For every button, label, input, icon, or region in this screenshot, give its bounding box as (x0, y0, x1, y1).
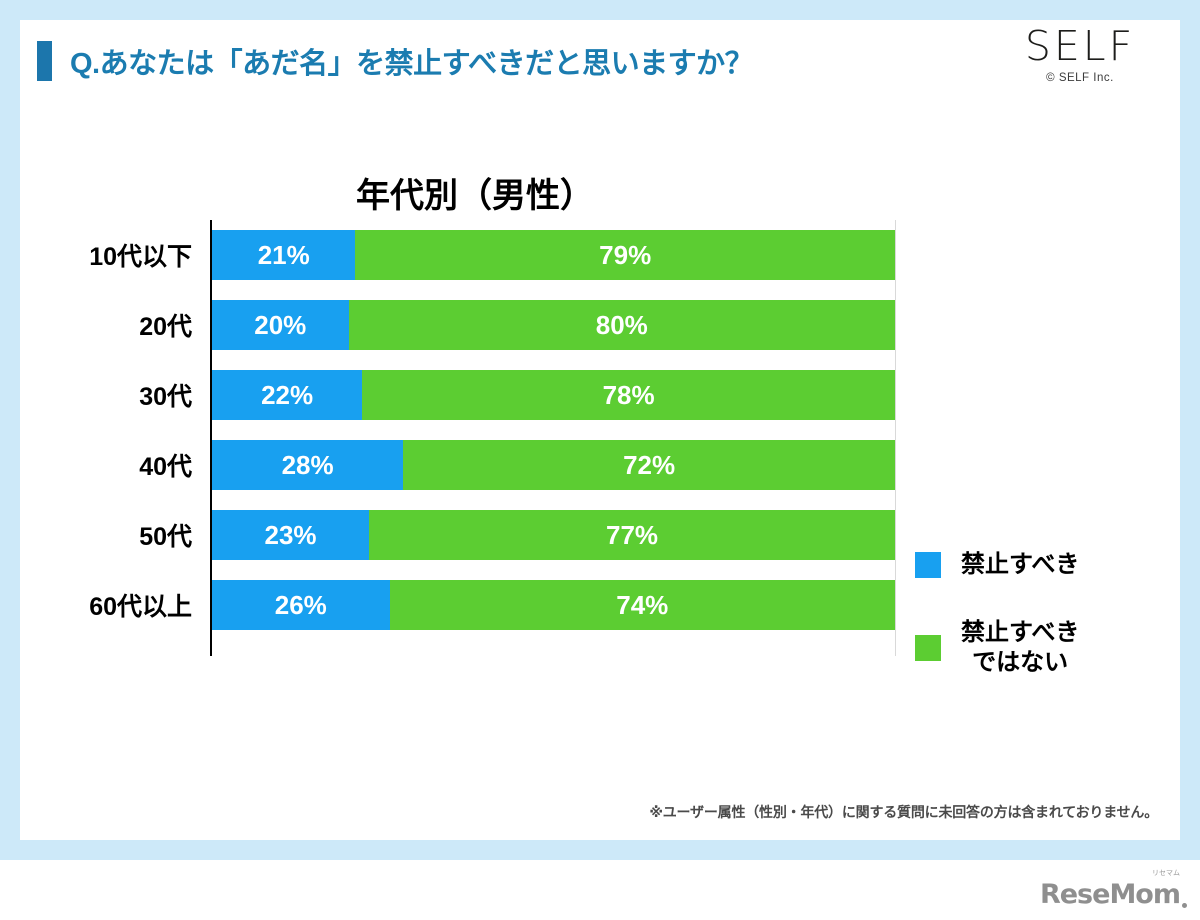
resemom-logo-wordmark: ReseMom (1040, 879, 1180, 910)
content-card: Q.あなたは「あだ名」を禁止すべきだと思いますか？ SELF © SELF In… (20, 20, 1180, 840)
bar-segment-no-ban[interactable]: 80% (349, 300, 895, 350)
resemom-logo-ruby: リセマム (1152, 868, 1180, 878)
bar-segment-no-ban[interactable]: 77% (369, 510, 895, 560)
stacked-bar-20s: 20% 80% (212, 300, 895, 350)
legend-label: 禁止すべき (961, 550, 1079, 580)
bar-segment-ban[interactable]: 23% (212, 510, 369, 560)
footnote: ※ユーザー属性（性別・年代）に関する質問に未回答の方は含まれておりません。 (649, 802, 1158, 822)
bar-row: 20% 80% (212, 290, 895, 360)
bar-segment-ban[interactable]: 28% (212, 440, 403, 490)
stacked-bar-60plus: 26% 74% (212, 580, 895, 630)
category-label-50s: 50代 (30, 500, 200, 570)
bar-segment-no-ban[interactable]: 72% (403, 440, 895, 490)
page-frame: Q.あなたは「あだ名」を禁止すべきだと思いますか？ SELF © SELF In… (0, 0, 1200, 860)
category-axis: 10代以下 20代 30代 40代 50代 60代以上 (30, 220, 200, 640)
bar-row: 22% 78% (212, 360, 895, 430)
self-logo-copyright: © SELF Inc. (1000, 72, 1160, 84)
stacked-bar-40s: 28% 72% (212, 440, 895, 490)
page-title: Q.あなたは「あだ名」を禁止すべきだと思いますか？ (70, 40, 753, 82)
bar-segment-ban[interactable]: 26% (212, 580, 390, 630)
self-logo-text: SELF (1000, 26, 1160, 67)
category-label-30s: 30代 (30, 360, 200, 430)
bar-segment-no-ban[interactable]: 78% (362, 370, 895, 420)
bar-segment-no-ban[interactable]: 79% (355, 230, 895, 280)
bar-row: 23% 77% (212, 500, 895, 570)
legend-item-ban[interactable]: 禁止すべき (915, 550, 1155, 580)
bar-segment-ban[interactable]: 21% (212, 230, 355, 280)
bar-row: 26% 74% (212, 570, 895, 640)
category-label-60plus: 60代以上 (30, 570, 200, 640)
chart-area: 10代以下 20代 30代 40代 50代 60代以上 21% 79% (20, 220, 1180, 670)
legend-label: 禁止すべき ではない (961, 618, 1079, 678)
legend-swatch-icon (915, 635, 941, 661)
bar-segment-ban[interactable]: 20% (212, 300, 349, 350)
bar-segment-ban[interactable]: 22% (212, 370, 362, 420)
category-label-10s: 10代以下 (30, 220, 200, 290)
bar-segment-no-ban[interactable]: 74% (390, 580, 895, 630)
stacked-bar-10s: 21% 79% (212, 230, 895, 280)
plot-region: 21% 79% 20% 80% 22% 78% (210, 220, 896, 656)
header: Q.あなたは「あだ名」を禁止すべきだと思いますか？ SELF © SELF In… (20, 20, 1180, 102)
legend-item-no-ban[interactable]: 禁止すべき ではない (915, 618, 1155, 678)
legend: 禁止すべき 禁止すべき ではない (915, 550, 1155, 716)
title-accent-bar (37, 41, 52, 81)
resemom-logo: リセマム ReseMom (1030, 866, 1180, 910)
stacked-bar-30s: 22% 78% (212, 370, 895, 420)
legend-swatch-icon (915, 552, 941, 578)
resemom-logo-text: リセマム ReseMom (1040, 879, 1180, 910)
chart-title: 年代別（男性） (20, 168, 1180, 217)
bar-row: 28% 72% (212, 430, 895, 500)
self-logo: SELF © SELF Inc. (1000, 26, 1160, 84)
stacked-bar-50s: 23% 77% (212, 510, 895, 560)
category-label-20s: 20代 (30, 290, 200, 360)
bar-row: 21% 79% (212, 220, 895, 290)
category-label-40s: 40代 (30, 430, 200, 500)
bar-group: 21% 79% 20% 80% 22% 78% (212, 220, 895, 640)
